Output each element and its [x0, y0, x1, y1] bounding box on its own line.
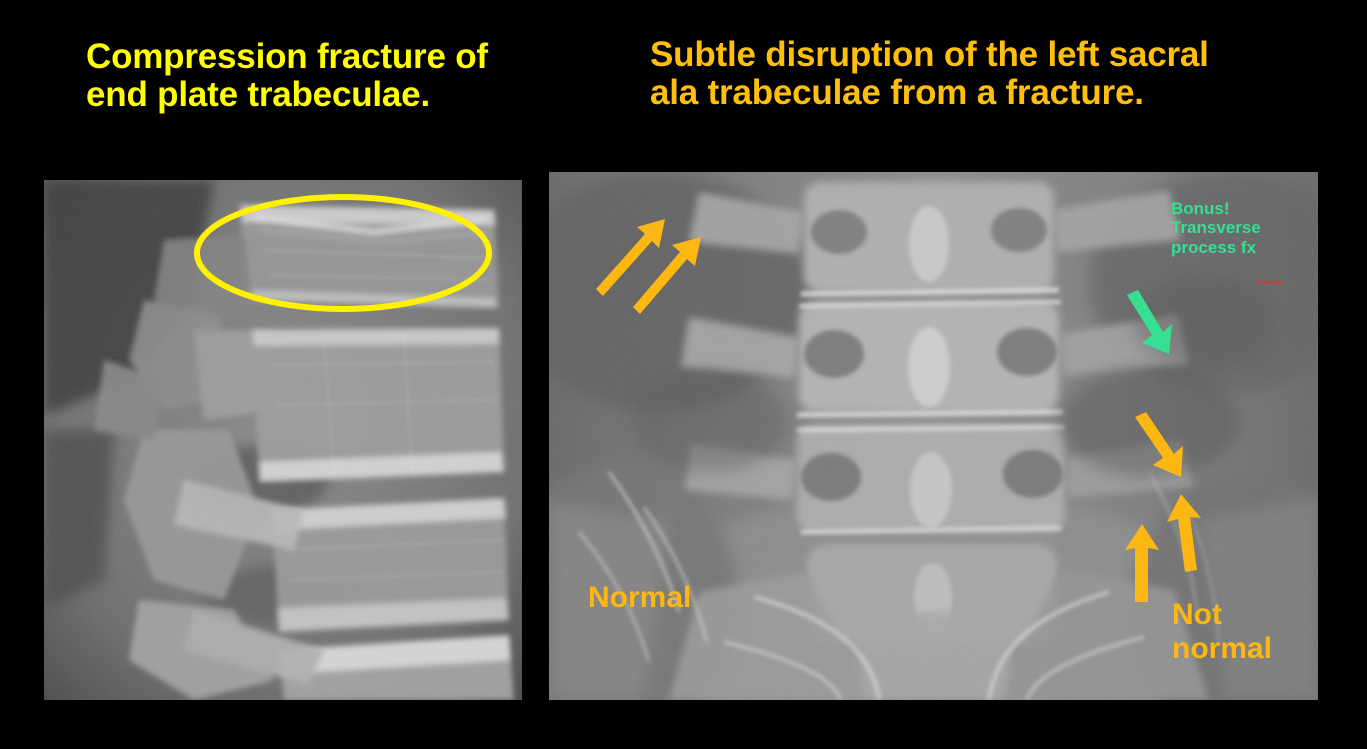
slide-canvas: Compression fracture of end plate trabec… [0, 0, 1367, 749]
annotation-label-not-normal: Not normal [1172, 598, 1272, 666]
page-title-right: Subtle disruption of the left sacral ala… [650, 36, 1290, 112]
xray-panel-lateral-lumbar-spine[interactable] [44, 180, 522, 700]
annotation-label-normal: Normal [588, 581, 691, 615]
annotation-label-bonus-transverse-process-fx: Bonus! Transverse process fx [1171, 199, 1261, 257]
page-title-left: Compression fracture of end plate trabec… [86, 38, 556, 114]
spellcheck-squiggle-icon [1258, 279, 1284, 284]
lateral-lumbar-spine-radiograph [44, 180, 522, 700]
